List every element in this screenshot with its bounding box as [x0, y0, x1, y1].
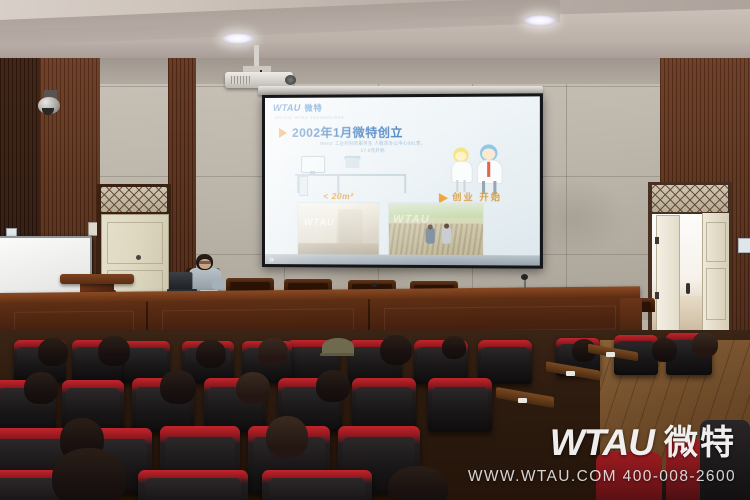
audience-head [316, 370, 350, 402]
screenshot-root: WTAU 微特 WEIHAI WTAU TECHNOLOGY 2002年1月微特… [0, 0, 750, 500]
seat-number-tag [606, 352, 615, 357]
projected-slide: WTAU 微特 WEIHAI WTAU TECHNOLOGY 2002年1月微特… [265, 96, 540, 265]
screen-glare [265, 96, 540, 265]
watermark-brand-cn: 微特 [664, 426, 736, 460]
door-right-open-leaf[interactable] [656, 215, 680, 331]
audience-head [196, 340, 226, 368]
audience-cap-brim [320, 353, 354, 356]
auditorium-seat [138, 470, 248, 500]
audience-head-foreground [388, 466, 448, 500]
watermark-logo-row: WTAU 微特 [468, 424, 736, 461]
projection-screen-frame: WTAU 微特 WEIHAI WTAU TECHNOLOGY 2002年1月微特… [262, 93, 543, 268]
door-hinge [655, 237, 659, 244]
door-peephole-icon [136, 255, 141, 260]
seat-number-tag [518, 398, 527, 403]
door-handle-right[interactable] [686, 283, 690, 294]
audience-head [442, 336, 466, 359]
laptop-screen [169, 272, 192, 290]
ceiling-downlight-icon [222, 33, 254, 44]
audience-head [24, 372, 58, 404]
audience-head [160, 370, 196, 404]
projector-vent [231, 76, 251, 84]
auditorium-seat [352, 378, 416, 432]
brand-watermark: WTAU 微特 WWW.WTAU.COM 400-008-2600 [468, 424, 736, 486]
audience-head [236, 372, 270, 404]
door-panel [706, 268, 726, 320]
seat-number-tag [566, 371, 575, 376]
audience-head [266, 416, 308, 458]
projector-mount-rod [254, 45, 259, 68]
watermark-brand-latin: WTAU [550, 424, 654, 461]
audience-head [692, 332, 718, 357]
watermark-url-phone: WWW.WTAU.COM 400-008-2600 [468, 468, 736, 486]
presenter-arm [212, 280, 226, 290]
audience-head [98, 336, 130, 366]
presenter-glasses-icon [199, 261, 211, 264]
audience-head [258, 338, 288, 366]
wall-control-plate[interactable] [738, 238, 750, 253]
microphone-icon [372, 283, 377, 287]
door-hinge [655, 292, 659, 299]
transom-lattice-window-right [652, 185, 728, 212]
audience-head [38, 338, 68, 366]
door-panel [706, 222, 726, 262]
projector-lens-icon [285, 75, 296, 85]
transom-lattice-window-left [101, 187, 167, 212]
ceiling-downlight-icon [524, 15, 556, 26]
auditorium-seat [262, 470, 372, 500]
audience-head [652, 338, 677, 362]
door-panel [107, 222, 163, 264]
audience-head [380, 335, 412, 365]
audience-head-foreground [52, 448, 126, 500]
microphone-icon [521, 274, 528, 280]
podium-top [60, 274, 134, 284]
